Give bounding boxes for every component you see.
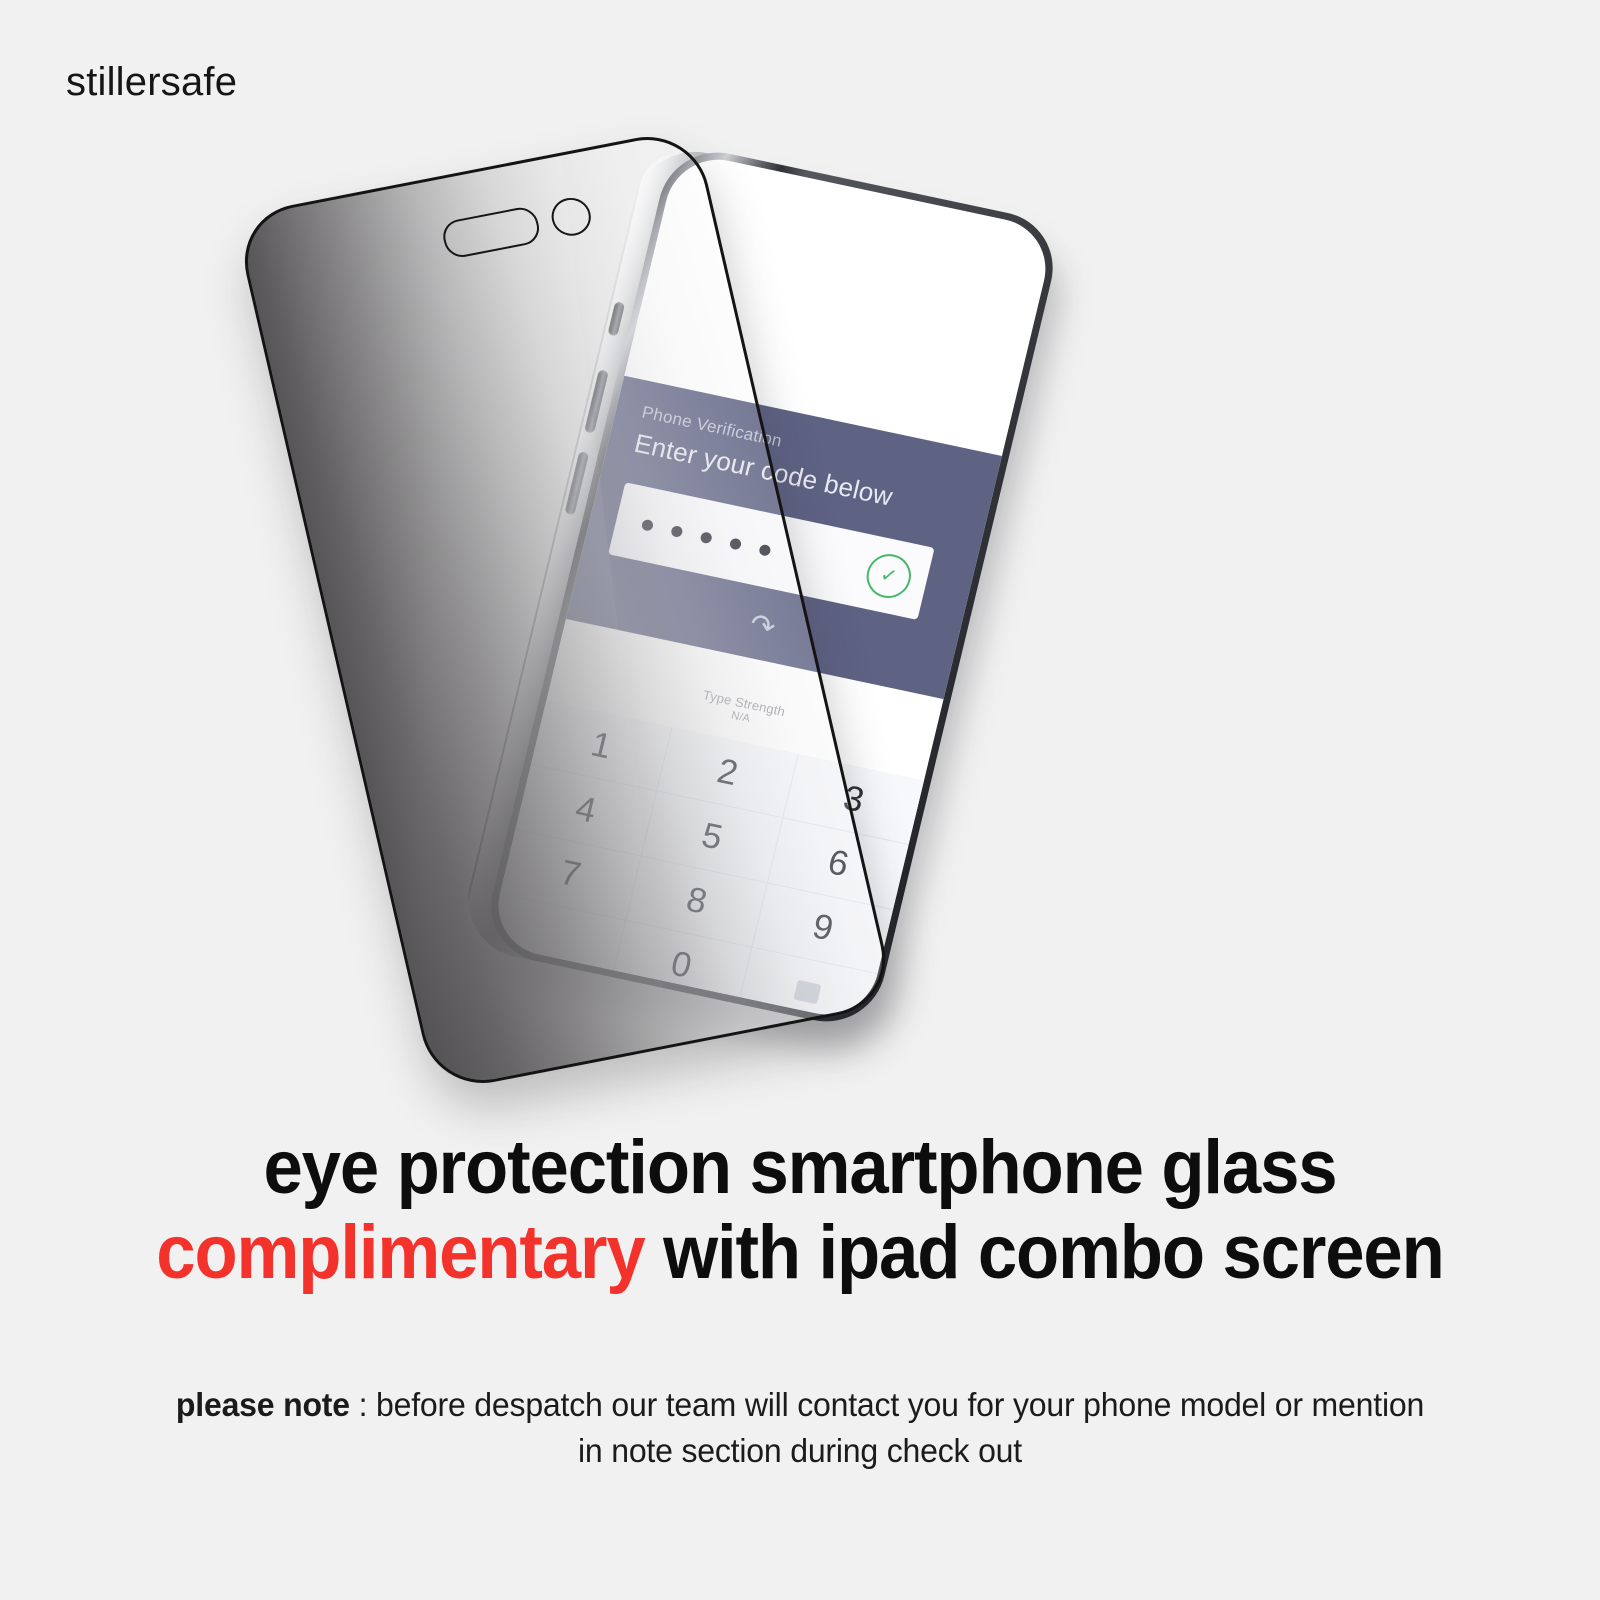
green-check-shield-icon: ✓: [862, 550, 915, 602]
brand-logo: stillersafe: [66, 62, 237, 102]
note-line-1-rest: : before despatch our team will contact …: [350, 1386, 1424, 1423]
headline-line-2: complimentary with ipad combo screen: [56, 1210, 1544, 1295]
headline-line-2-rest: with ipad combo screen: [645, 1210, 1444, 1295]
note-line-2: in note section during check out: [578, 1432, 1022, 1469]
headline-highlight: complimentary: [156, 1210, 644, 1295]
note-lead: please note: [176, 1386, 350, 1423]
hero-product-image: Phone Verification Enter your code below…: [0, 150, 1600, 1080]
headline-line-1: eye protection smartphone glass: [56, 1125, 1544, 1210]
note-text: please note : before despatch our team w…: [24, 1382, 1576, 1473]
note-line-1: please note : before despatch our team w…: [176, 1386, 1424, 1423]
glass-sheen: [233, 127, 690, 1094]
page-headline: eye protection smartphone glass complime…: [56, 1125, 1544, 1295]
